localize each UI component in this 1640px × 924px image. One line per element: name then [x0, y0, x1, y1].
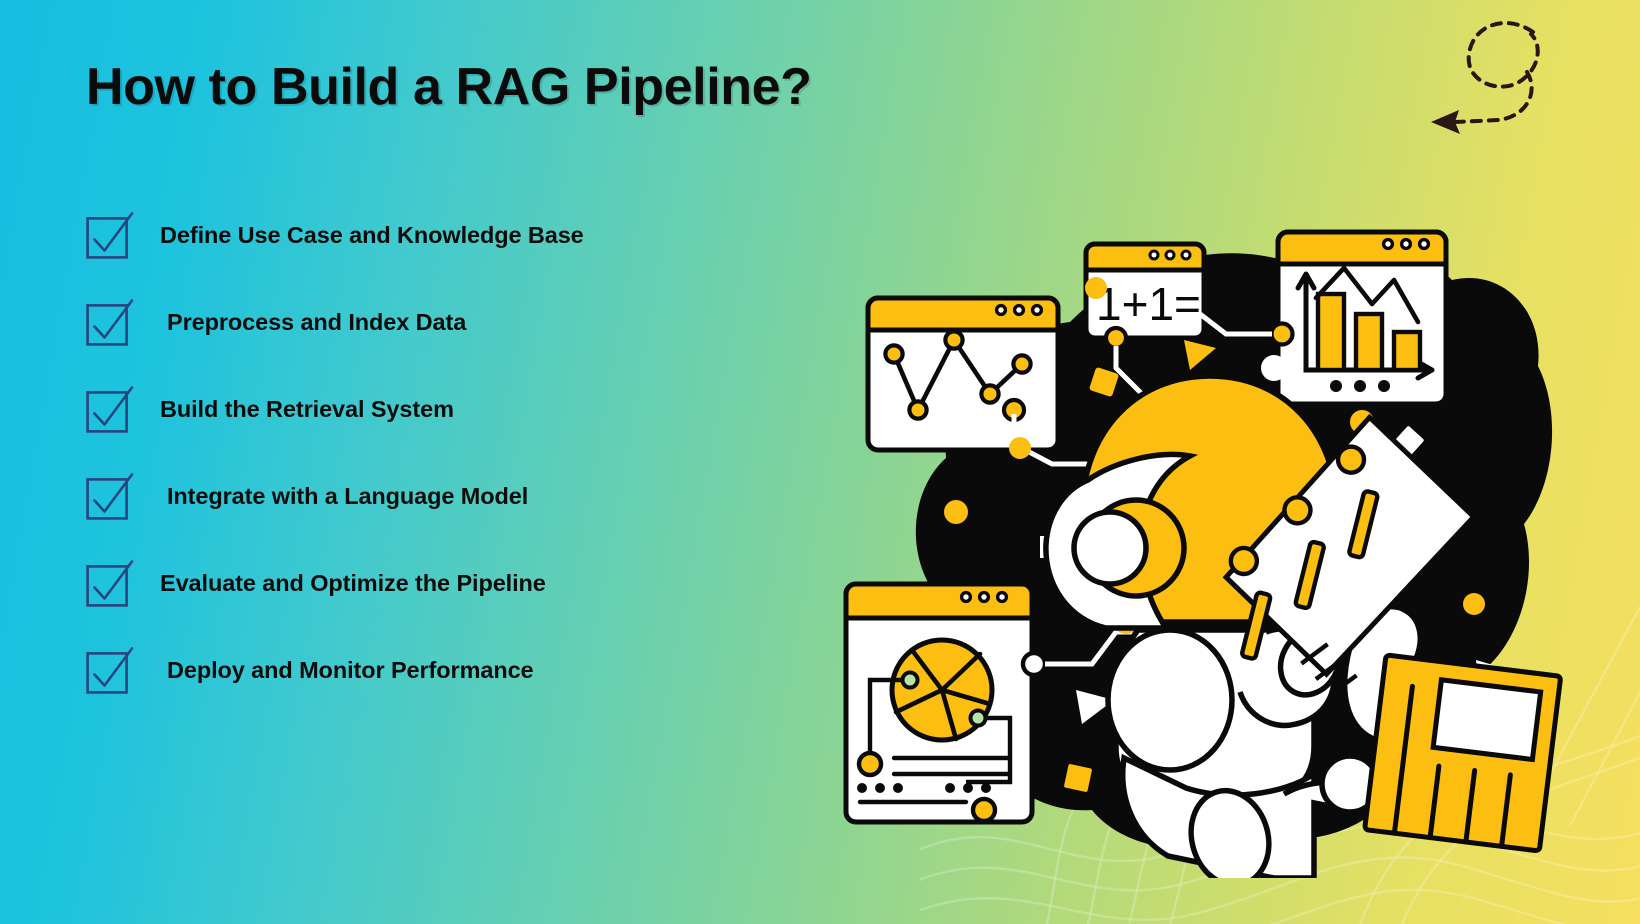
poster-canvas: How to Build a RAG Pipeline? Define Use …: [0, 0, 1640, 924]
checkbox-checked-icon[interactable]: [86, 386, 133, 433]
checklist-item-label: Define Use Case and Knowledge Base: [160, 222, 584, 249]
checklist-item-label: Evaluate and Optimize the Pipeline: [160, 570, 546, 597]
checkbox-checked-icon[interactable]: [86, 647, 133, 694]
connector-node: [1023, 653, 1045, 675]
checkbox-checked-icon[interactable]: [86, 212, 133, 259]
window-dots: [1384, 240, 1429, 249]
checklist-item-3[interactable]: Build the Retrieval System: [86, 366, 826, 453]
checklist-item-6[interactable]: Deploy and Monitor Performance: [86, 627, 826, 714]
checkbox-checked-icon[interactable]: [86, 299, 133, 346]
checkbox-checked-icon[interactable]: [86, 473, 133, 520]
yellow-document-card: [1365, 655, 1561, 851]
robot-chest-plate: [1108, 630, 1232, 770]
window-dots: [962, 593, 1007, 602]
checklist-item-label: Deploy and Monitor Performance: [160, 657, 534, 684]
pie-node-a: [903, 673, 918, 688]
checklist-item-label: Build the Retrieval System: [160, 396, 454, 423]
page-title: How to Build a RAG Pipeline?: [86, 57, 811, 117]
checklist-item-2[interactable]: Preprocess and Index Data: [86, 279, 826, 366]
pie-node-b: [971, 711, 986, 726]
window-dots: [997, 306, 1042, 315]
robot-lens: [1074, 512, 1146, 584]
checklist: Define Use Case and Knowledge Base Prepr…: [86, 192, 826, 714]
robot-with-dashboards-illustration: 1+1=2: [838, 218, 1578, 878]
checklist-item-4[interactable]: Integrate with a Language Model: [86, 453, 826, 540]
checklist-item-5[interactable]: Evaluate and Optimize the Pipeline: [86, 540, 826, 627]
checklist-item-label: Integrate with a Language Model: [160, 483, 528, 510]
checklist-item-1[interactable]: Define Use Case and Knowledge Base: [86, 192, 826, 279]
dashed-loop-arrow: [1415, 10, 1550, 135]
window-dots: [1150, 251, 1190, 259]
connector-node: [1106, 328, 1126, 348]
checkbox-checked-icon[interactable]: [86, 560, 133, 607]
checklist-item-label: Preprocess and Index Data: [160, 309, 466, 336]
connector-node: [1272, 324, 1293, 345]
bar-chart-legend-dots: [1330, 380, 1390, 392]
